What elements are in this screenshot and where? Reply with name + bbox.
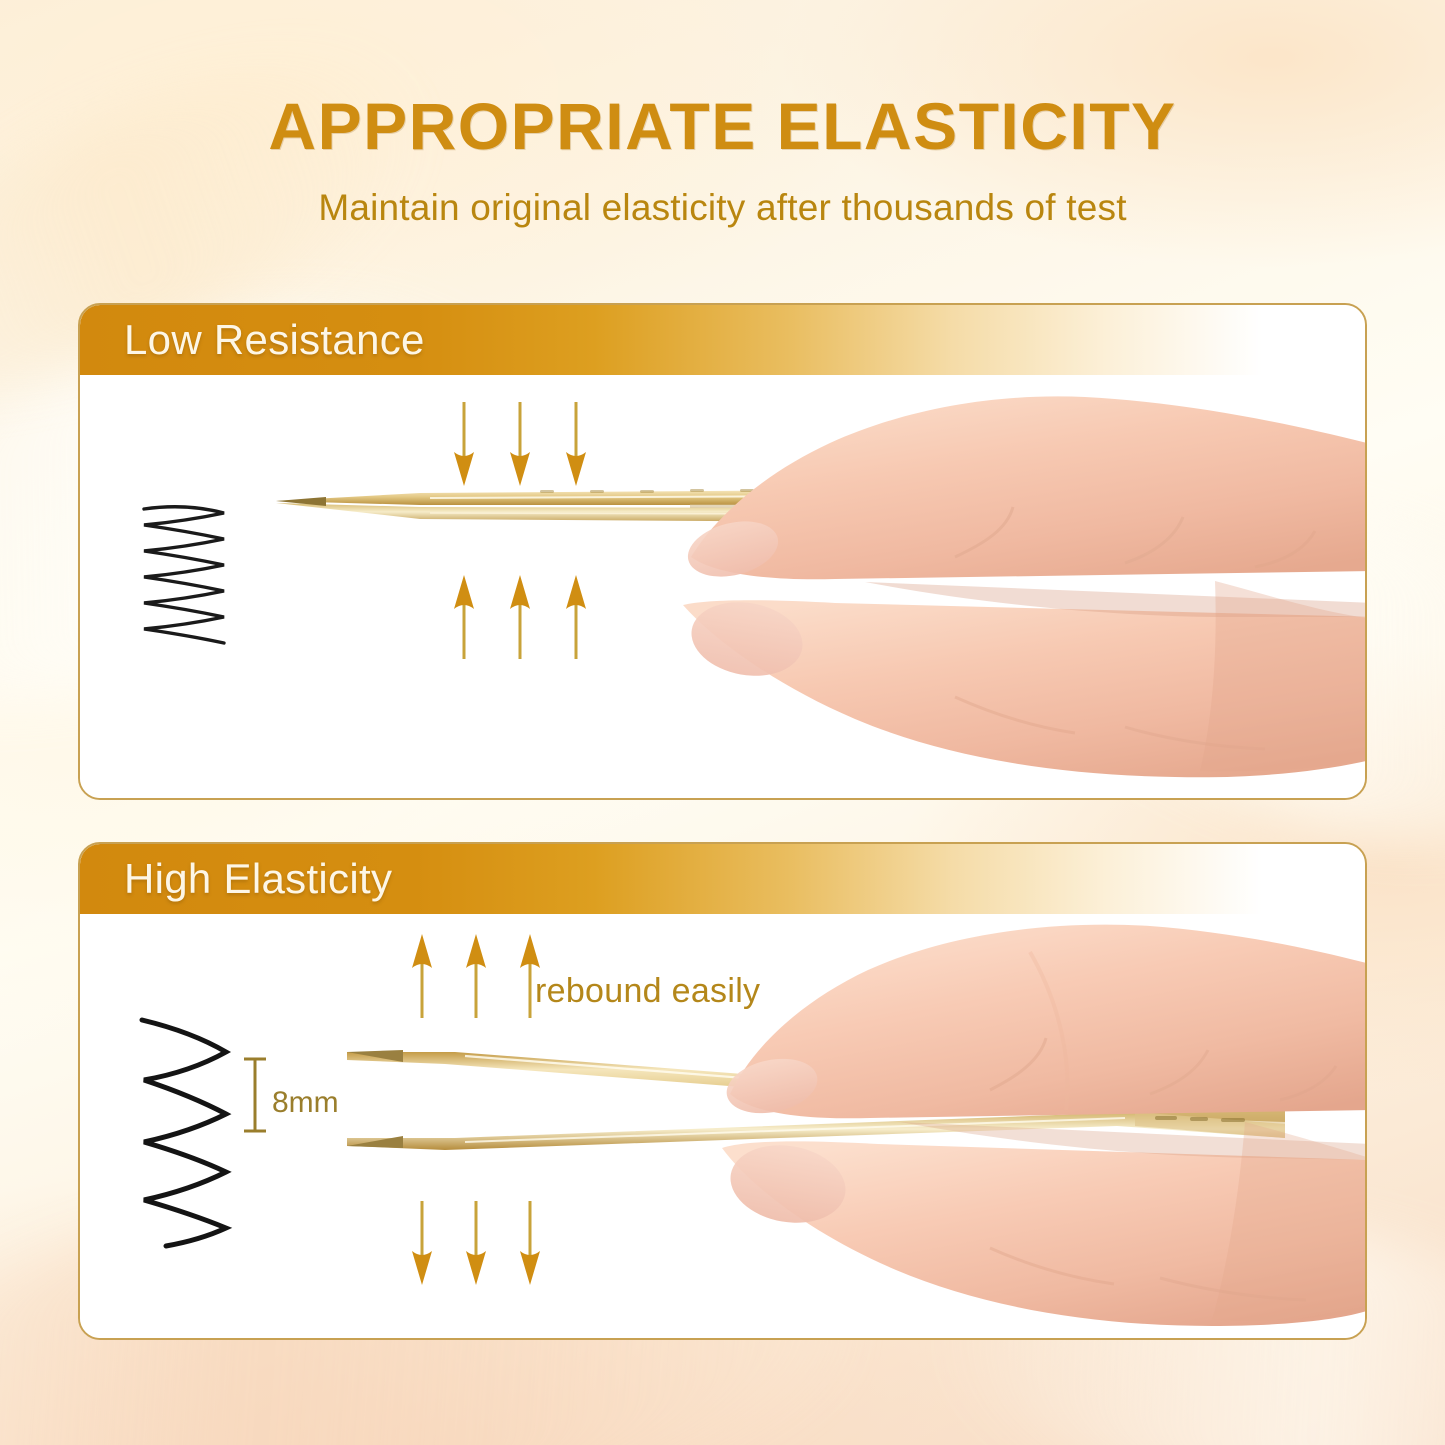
stretched-coil-spring-icon [122, 1014, 252, 1257]
banner-label-low-resistance: Low Resistance [124, 316, 425, 364]
banner-low-resistance: Low Resistance [80, 305, 1365, 375]
panel-high-elasticity: High Elasticity [78, 842, 1367, 1340]
infographic-page: APPROPRIATE ELASTICITY Maintain original… [0, 0, 1445, 1445]
compressed-coil-spring-icon [126, 501, 246, 656]
arrow-up-icon [410, 932, 434, 1020]
hand-pinching-icon [700, 912, 1367, 1340]
hand-pinching-icon [655, 367, 1367, 800]
arrow-group-down-bottom [410, 1199, 542, 1287]
annotation-8mm: 8mm [272, 1086, 339, 1120]
dimension-line-icon [240, 1056, 270, 1139]
arrow-up-icon [464, 932, 488, 1020]
arrow-up-icon [508, 573, 532, 661]
banner-label-high-elasticity: High Elasticity [124, 855, 392, 903]
annotation-rebound-easily: rebound easily [535, 972, 760, 1011]
page-title: APPROPRIATE ELASTICITY [0, 92, 1445, 161]
arrow-group-up-bottom [410, 932, 542, 1020]
arrow-down-icon [464, 1199, 488, 1287]
arrow-up-icon [452, 573, 476, 661]
arrow-group-up-top [452, 573, 588, 661]
arrow-group-down-top [452, 400, 588, 488]
page-subtitle: Maintain original elasticity after thous… [0, 187, 1445, 229]
banner-high-elasticity: High Elasticity [80, 844, 1365, 914]
arrow-down-icon [452, 400, 476, 488]
arrow-up-icon [564, 573, 588, 661]
panel-low-resistance: Low Resistance [78, 303, 1367, 800]
panel-body-low-resistance [80, 375, 1365, 798]
arrow-down-icon [518, 1199, 542, 1287]
arrow-down-icon [564, 400, 588, 488]
arrow-down-icon [410, 1199, 434, 1287]
header: APPROPRIATE ELASTICITY Maintain original… [0, 92, 1445, 229]
arrow-down-icon [508, 400, 532, 488]
panel-body-high-elasticity: rebound easily 8mm [80, 914, 1365, 1338]
